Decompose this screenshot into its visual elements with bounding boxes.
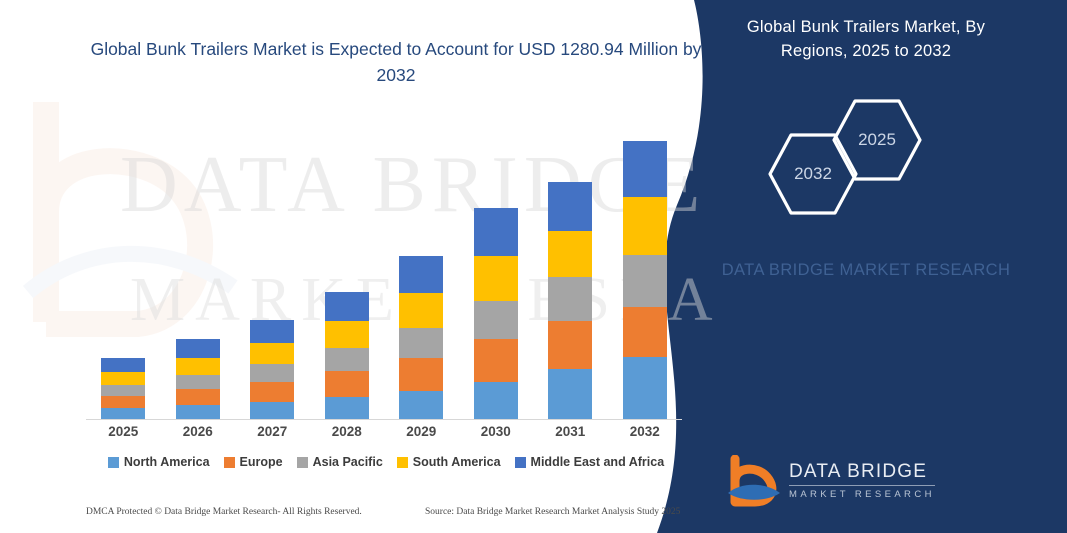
bar-segment[interactable] xyxy=(623,357,667,419)
bar-segment[interactable] xyxy=(399,358,443,391)
legend-swatch-icon xyxy=(108,457,119,468)
dbmr-logo: DATA BRIDGE MARKET RESEARCH xyxy=(727,455,1027,510)
footer-source: Source: Data Bridge Market Research Mark… xyxy=(425,507,680,517)
bar-group xyxy=(86,119,682,419)
bar-segment[interactable] xyxy=(474,256,518,301)
x-axis-label-2026: 2026 xyxy=(168,424,228,439)
hexagon-group: 2025 2032 xyxy=(735,96,1035,216)
bar-segment[interactable] xyxy=(474,339,518,382)
bar-segment[interactable] xyxy=(548,231,592,277)
bar-segment[interactable] xyxy=(399,256,443,293)
chart-legend: North AmericaEuropeAsia PacificSouth Ame… xyxy=(86,455,686,469)
legend-label: Europe xyxy=(240,455,283,469)
bar-segment[interactable] xyxy=(250,402,294,419)
bar-segment[interactable] xyxy=(399,391,443,419)
bar-segment[interactable] xyxy=(250,382,294,402)
bar-segment[interactable] xyxy=(325,348,369,371)
bar-segment[interactable] xyxy=(250,343,294,364)
x-axis-label-2025: 2025 xyxy=(93,424,153,439)
bar-segment[interactable] xyxy=(474,301,518,339)
bar-column-2026[interactable] xyxy=(176,339,220,419)
bar-segment[interactable] xyxy=(101,396,145,408)
bar-segment[interactable] xyxy=(399,328,443,358)
legend-item-middle-east-and-africa[interactable]: Middle East and Africa xyxy=(515,455,665,469)
bar-segment[interactable] xyxy=(325,397,369,419)
legend-item-south-america[interactable]: South America xyxy=(397,455,501,469)
bar-segment[interactable] xyxy=(474,382,518,419)
x-axis-label-2027: 2027 xyxy=(242,424,302,439)
legend-item-north-america[interactable]: North America xyxy=(108,455,210,469)
bar-segment[interactable] xyxy=(101,385,145,396)
bar-segment[interactable] xyxy=(623,255,667,307)
bar-segment[interactable] xyxy=(325,321,369,348)
bar-segment[interactable] xyxy=(176,375,220,389)
footer: DMCA Protected © Data Bridge Market Rese… xyxy=(0,507,700,527)
bar-segment[interactable] xyxy=(474,208,518,256)
bar-segment[interactable] xyxy=(548,182,592,231)
dbmr-logo-text: DATA BRIDGE MARKET RESEARCH xyxy=(789,461,935,500)
x-axis-labels: 20252026202720282029203020312032 xyxy=(86,424,686,446)
bar-column-2032[interactable] xyxy=(623,141,667,419)
legend-swatch-icon xyxy=(297,457,308,468)
legend-item-europe[interactable]: Europe xyxy=(224,455,283,469)
bar-segment[interactable] xyxy=(101,372,145,385)
legend-label: North America xyxy=(124,455,210,469)
bar-column-2031[interactable] xyxy=(548,182,592,419)
bar-column-2027[interactable] xyxy=(250,320,294,419)
bar-segment[interactable] xyxy=(101,408,145,419)
legend-label: South America xyxy=(413,455,501,469)
chart-title: Global Bunk Trailers Market is Expected … xyxy=(86,36,706,89)
bar-segment[interactable] xyxy=(176,339,220,358)
bar-segment[interactable] xyxy=(250,320,294,343)
legend-label: Asia Pacific xyxy=(313,455,383,469)
legend-swatch-icon xyxy=(515,457,526,468)
bar-column-2028[interactable] xyxy=(325,292,369,419)
dbmr-logo-mark-icon xyxy=(727,455,783,507)
bar-column-2029[interactable] xyxy=(399,256,443,419)
x-axis-label-2032: 2032 xyxy=(615,424,675,439)
legend-swatch-icon xyxy=(224,457,235,468)
x-axis-label-2030: 2030 xyxy=(466,424,526,439)
bar-segment[interactable] xyxy=(176,389,220,405)
x-axis-label-2031: 2031 xyxy=(540,424,600,439)
bar-segment[interactable] xyxy=(176,405,220,419)
bar-segment[interactable] xyxy=(623,197,667,255)
x-axis-label-2028: 2028 xyxy=(317,424,377,439)
bar-segment[interactable] xyxy=(623,141,667,197)
chart-plot-area xyxy=(86,110,686,420)
footer-copyright: DMCA Protected © Data Bridge Market Rese… xyxy=(86,507,362,517)
hexagon-2032-label: 2032 xyxy=(767,164,859,184)
legend-label: Middle East and Africa xyxy=(531,455,665,469)
bar-segment[interactable] xyxy=(399,293,443,328)
right-panel-content: Global Bunk Trailers Market, By Regions,… xyxy=(707,0,1067,533)
bar-column-2030[interactable] xyxy=(474,208,518,419)
hexagon-2032: 2032 xyxy=(767,132,859,216)
dbmr-logo-secondary: MARKET RESEARCH xyxy=(789,489,935,500)
bar-segment[interactable] xyxy=(548,277,592,321)
panel-brand-text: DATA BRIDGE MARKET RESEARCH xyxy=(721,258,1011,283)
bar-segment[interactable] xyxy=(250,364,294,382)
bar-segment[interactable] xyxy=(548,369,592,419)
bar-segment[interactable] xyxy=(325,292,369,321)
x-axis-label-2029: 2029 xyxy=(391,424,451,439)
x-axis-line xyxy=(86,419,682,420)
bar-segment[interactable] xyxy=(101,358,145,372)
panel-title: Global Bunk Trailers Market, By Regions,… xyxy=(721,16,1011,64)
dbmr-logo-primary: DATA BRIDGE xyxy=(789,461,935,486)
bar-segment[interactable] xyxy=(176,358,220,375)
bar-segment[interactable] xyxy=(623,307,667,357)
infographic-root: DATA BRIDGE MARKET RESEARCH Global Bunk … xyxy=(0,0,1067,533)
bar-segment[interactable] xyxy=(548,321,592,369)
legend-swatch-icon xyxy=(397,457,408,468)
legend-item-asia-pacific[interactable]: Asia Pacific xyxy=(297,455,383,469)
bar-segment[interactable] xyxy=(325,371,369,397)
bar-column-2025[interactable] xyxy=(101,358,145,419)
